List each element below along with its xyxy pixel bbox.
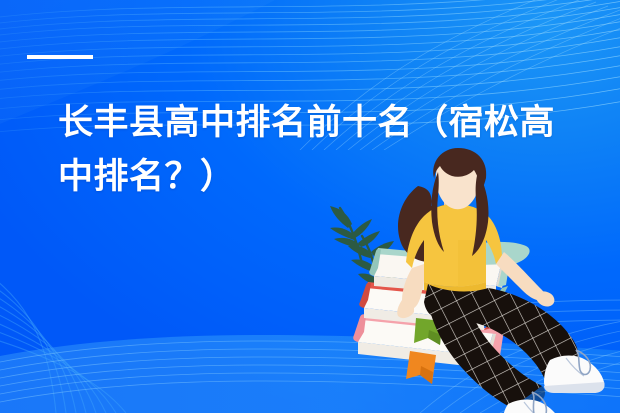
accent-rule [27, 55, 93, 59]
poster-canvas: 长丰县高中排名前十名（宿松高 中排名？） [0, 0, 620, 413]
title-line-1: 长丰县高中排名前十名（宿松高 [58, 96, 558, 150]
orange-bookmark [406, 351, 436, 384]
pants [424, 284, 579, 413]
title-line-2: 中排名？） [58, 150, 558, 204]
page-title: 长丰县高中排名前十名（宿松高 中排名？） [58, 96, 558, 204]
